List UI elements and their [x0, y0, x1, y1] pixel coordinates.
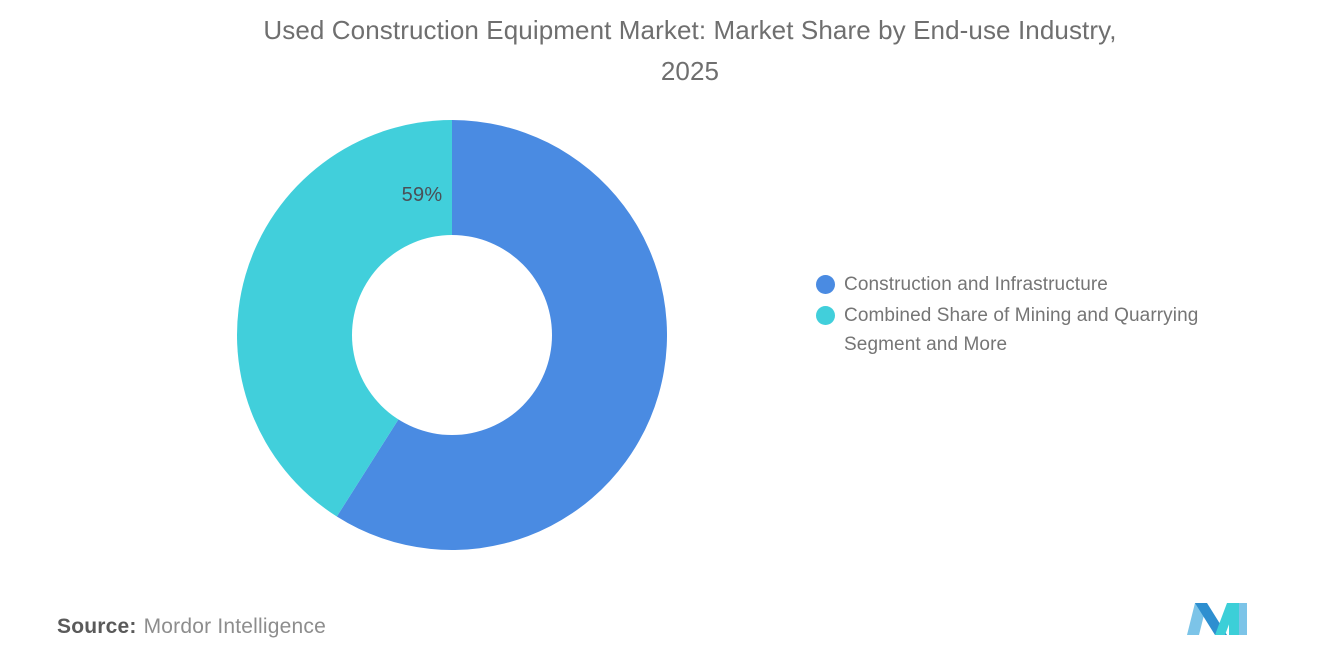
legend-swatch-icon	[816, 306, 835, 325]
legend-item-label: Construction and Infrastructure	[844, 270, 1108, 299]
donut-chart-svg	[237, 120, 667, 550]
source-label: Source:	[57, 615, 137, 638]
legend-item-label: Combined Share of Mining and Quarrying S…	[844, 301, 1274, 359]
legend-item-combined-share-of-mining-and-quarrying[interactable]: Combined Share of Mining and Quarrying S…	[816, 301, 1286, 359]
donut-center-hole	[352, 235, 552, 435]
chart-legend: Construction and Infrastructure Combined…	[816, 270, 1286, 361]
logo-mark-icon	[1185, 597, 1253, 639]
legend-item-construction-and-infrastructure[interactable]: Construction and Infrastructure	[816, 270, 1286, 299]
source-line: Source:Mordor Intelligence	[57, 612, 326, 642]
mordor-intelligence-logo	[1185, 597, 1253, 639]
source-value: Mordor Intelligence	[144, 615, 326, 638]
donut-chart: 59%	[237, 120, 667, 550]
legend-swatch-icon	[816, 275, 835, 294]
page-title: Used Construction Equipment Market: Mark…	[160, 10, 1220, 92]
